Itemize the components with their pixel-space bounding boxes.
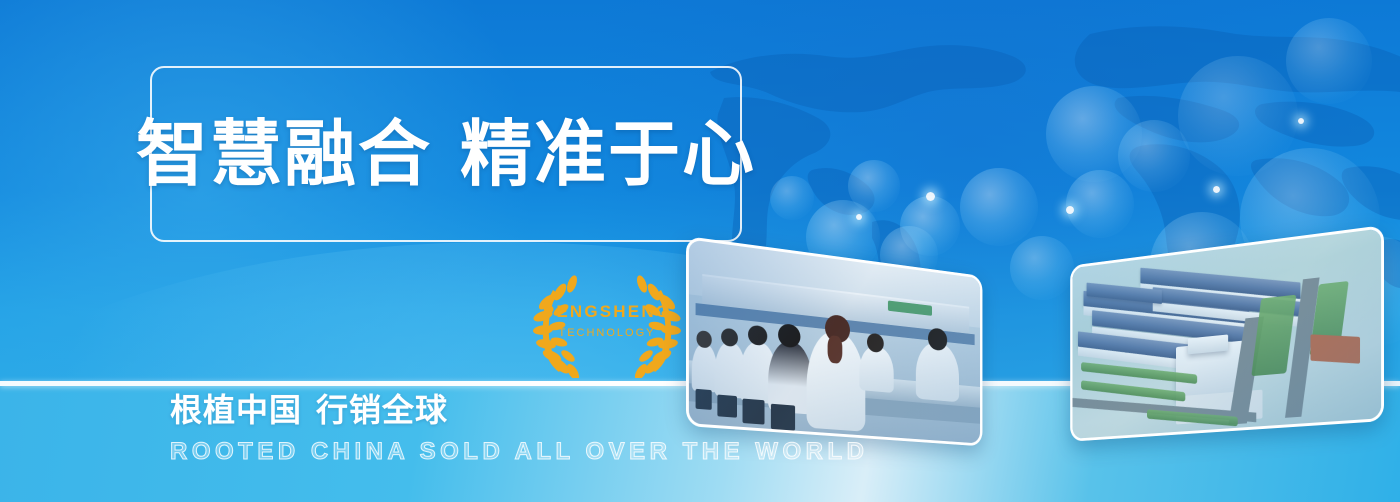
tagline-cn-part1: 根植中国 <box>170 391 302 429</box>
badge-brand-sub: TECHNOLOGY <box>558 327 655 339</box>
hero-banner: 智慧融合精准于心 <box>0 0 1400 502</box>
headline-frame: 智慧融合精准于心 <box>150 66 742 242</box>
photo-factory-campus-aerial[interactable] <box>1070 225 1384 442</box>
headline-part1: 智慧融合 <box>136 112 432 196</box>
headline-text: 智慧融合精准于心 <box>136 118 756 190</box>
tagline-chinese: 根植中国行销全球 <box>170 392 868 429</box>
headline-part2: 精准于心 <box>460 112 756 196</box>
pengsheng-laurel-badge: PENGSHENG TECHNOLOGY <box>527 268 687 378</box>
tagline-cn-part2: 行销全球 <box>316 391 448 429</box>
tagline-english: ROOTED CHINA SOLD ALL OVER THE WORLD <box>170 438 868 466</box>
tagline-block: 根植中国行销全球 ROOTED CHINA SOLD ALL OVER THE … <box>170 392 868 466</box>
badge-brand-name: PENGSHENG <box>543 302 671 322</box>
